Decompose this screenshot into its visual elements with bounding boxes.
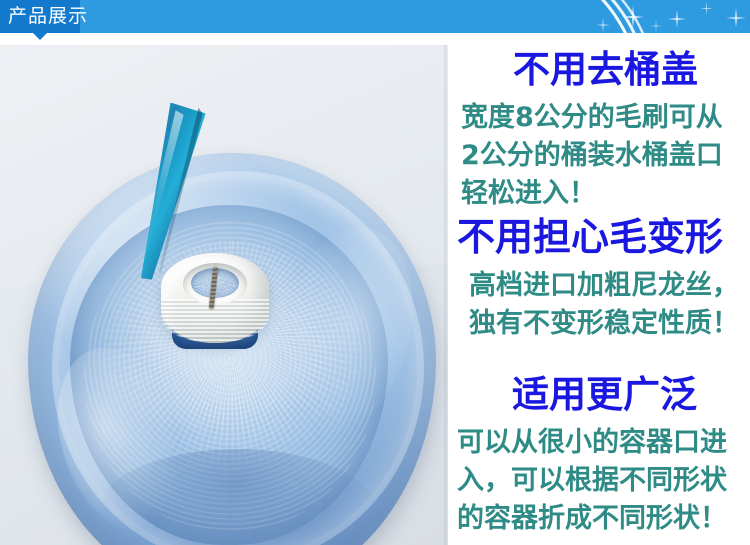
product-photo [0,45,448,545]
feature-2-body-line: 独有不变形稳定性质！ [469,305,750,343]
feature-block-3: 适用更广泛 可以从很小的容器口进 入，可以根据不同形状 的容器折成不同形状！ [455,375,750,538]
feature-2-heading: 不用担心毛变形 [455,217,750,258]
feature-2-body-line: 高档进口加粗尼龙丝， [469,267,750,305]
sparkle-star-icon [668,10,686,28]
feature-1-body-line: 2公分的桶装水桶盖口 [461,137,750,175]
section-tab-label: 产品展示 [8,5,88,28]
feature-block-2: 不用担心毛变形 高档进口加粗尼龙丝， 独有不变形稳定性质！ [455,217,750,343]
sparkle-star-icon [622,6,644,28]
feature-block-1: 不用去桶盖 宽度8公分的毛刷可从 2公分的桶装水桶盖口 轻松进入！ [455,50,750,213]
photo-right-edge [444,45,448,545]
feature-1-body: 宽度8公分的毛刷可从 2公分的桶装水桶盖口 轻松进入！ [455,99,750,213]
feature-text-column: 不用去桶盖 宽度8公分的毛刷可从 2公分的桶装水桶盖口 轻松进入！ 不用担心毛变… [455,45,750,545]
feature-2-body: 高档进口加粗尼龙丝， 独有不变形稳定性质！ [455,267,750,343]
feature-3-body-line: 入，可以根据不同形状 [457,462,750,500]
feature-1-body-line: 宽度8公分的毛刷可从 [461,99,750,137]
swoosh-icon [570,0,690,33]
feature-1-body-line: 轻松进入！ [461,175,750,213]
sparkle-star-icon [700,2,713,15]
section-tab[interactable]: 产品展示 [0,0,80,33]
feature-3-body: 可以从很小的容器口进 入，可以根据不同形状 的容器折成不同形状！ [455,424,750,538]
feature-1-heading: 不用去桶盖 [455,50,750,90]
sparkle-star-icon [650,20,662,32]
feature-3-heading: 适用更广泛 [455,375,750,415]
section-tab-pointer-icon [33,33,47,40]
page-header-banner: 产品展示 [0,0,750,33]
sparkle-star-icon [726,8,746,28]
feature-3-body-line: 可以从很小的容器口进 [457,424,750,462]
feature-3-body-line: 的容器折成不同形状！ [457,500,750,538]
sparkle-star-icon [596,18,610,32]
